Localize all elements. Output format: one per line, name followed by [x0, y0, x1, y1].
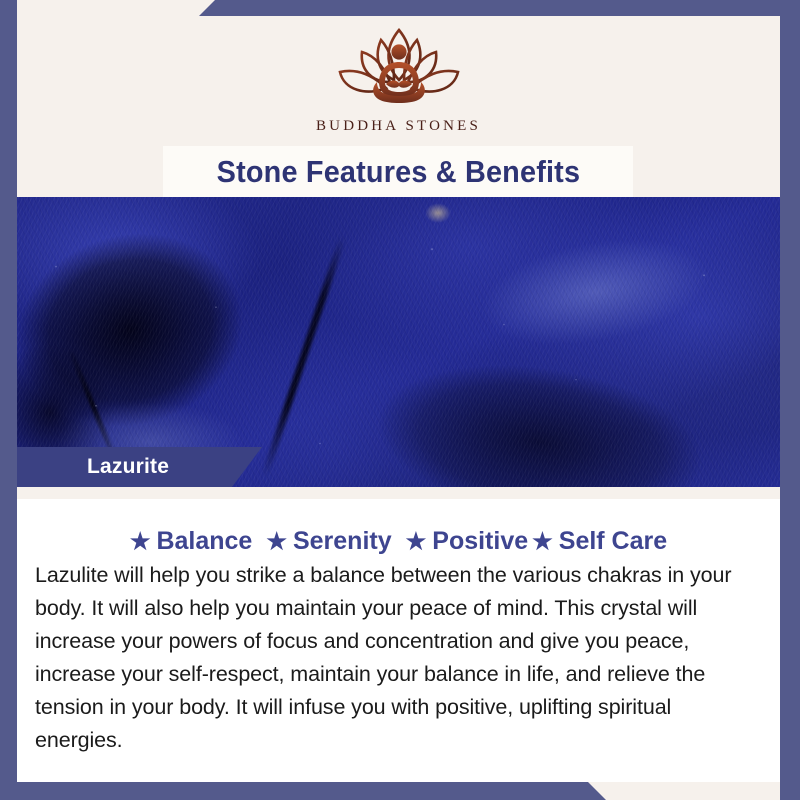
stone-name: Lazurite [87, 455, 169, 479]
brand-name: BUDDHA STONES [316, 118, 481, 135]
card-top-divider [17, 487, 780, 499]
stone-photo [0, 197, 800, 487]
keyword-self-care: Self Care [559, 527, 667, 556]
brand-logo: BUDDHA STONES [17, 22, 780, 135]
title-banner: Stone Features & Benefits [163, 146, 633, 197]
keyword-balance: Balance [156, 527, 252, 556]
stone-info-poster: BUDDHA STONES Stone Features & Benefits … [0, 0, 800, 800]
lotus-meditation-icon [324, 22, 474, 114]
star-icon: ★ [406, 530, 427, 553]
keyword-serenity: Serenity [293, 527, 392, 556]
keyword-row: ★ Balance ★ Serenity ★ Positive ★ Self C… [17, 527, 780, 556]
frame-left-accent [0, 0, 17, 800]
star-icon: ★ [532, 530, 553, 553]
frame-top-accent [0, 0, 800, 16]
keyword-positive: Positive [432, 527, 528, 556]
frame-right-accent [780, 0, 800, 800]
stone-name-banner: Lazurite [0, 447, 262, 487]
star-icon: ★ [266, 530, 287, 553]
stone-photo-speckles [0, 197, 800, 487]
star-icon: ★ [130, 530, 151, 553]
content-card: ★ Balance ★ Serenity ★ Positive ★ Self C… [17, 487, 780, 783]
page-title: Stone Features & Benefits [216, 154, 580, 190]
stone-description: Lazulite will help you strike a balance … [35, 559, 762, 757]
